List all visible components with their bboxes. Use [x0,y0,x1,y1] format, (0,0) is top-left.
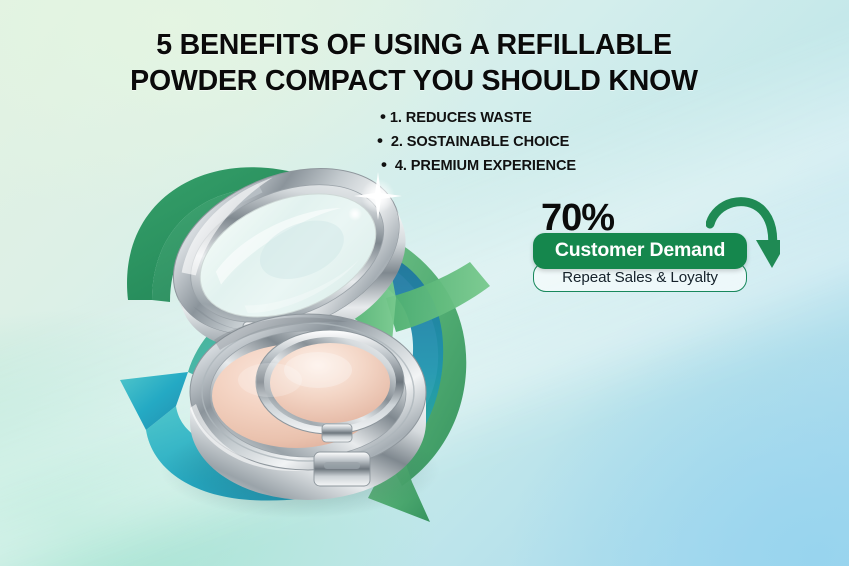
stat-percent-value: 70% [541,199,747,237]
list-item: • 2. SOSTAINABLE CHOICE [368,132,668,150]
page-title: 5 BENEFITS OF USING A REFILLABLE POWDER … [0,27,828,99]
bullet-dot-icon: • [380,108,386,125]
powder-cake-lower-sheen [238,363,302,397]
benefits-list: • 1. REDUCES WASTE • 2. SOSTAINABLE CHOI… [368,108,668,180]
poster-canvas: 5 BENEFITS OF USING A REFILLABLE POWDER … [0,0,849,566]
list-item-label: 2. SOSTAINABLE CHOICE [387,134,569,150]
base-hinge-tab [322,424,352,442]
page-title-line-2: POWDER COMPACT YOU SHOULD KNOW [0,63,828,99]
list-item-label: 1. REDUCES WASTE [390,110,532,126]
list-item: • 4. PREMIUM EXPERIENCE [368,156,668,174]
bullet-dot-icon: • [377,132,383,149]
compact-base [190,314,426,500]
list-item-label: 4. PREMIUM EXPERIENCE [391,158,576,174]
stat-badge: 70% Customer Demand Repeat Sales & Loyal… [533,199,747,292]
compact-latch [314,452,370,486]
list-item: • 1. REDUCES WASTE [368,108,668,126]
page-title-line-1: 5 BENEFITS OF USING A REFILLABLE [156,29,672,61]
bullet-dot-icon: • [381,156,387,173]
sparkle-small-icon [348,207,362,221]
